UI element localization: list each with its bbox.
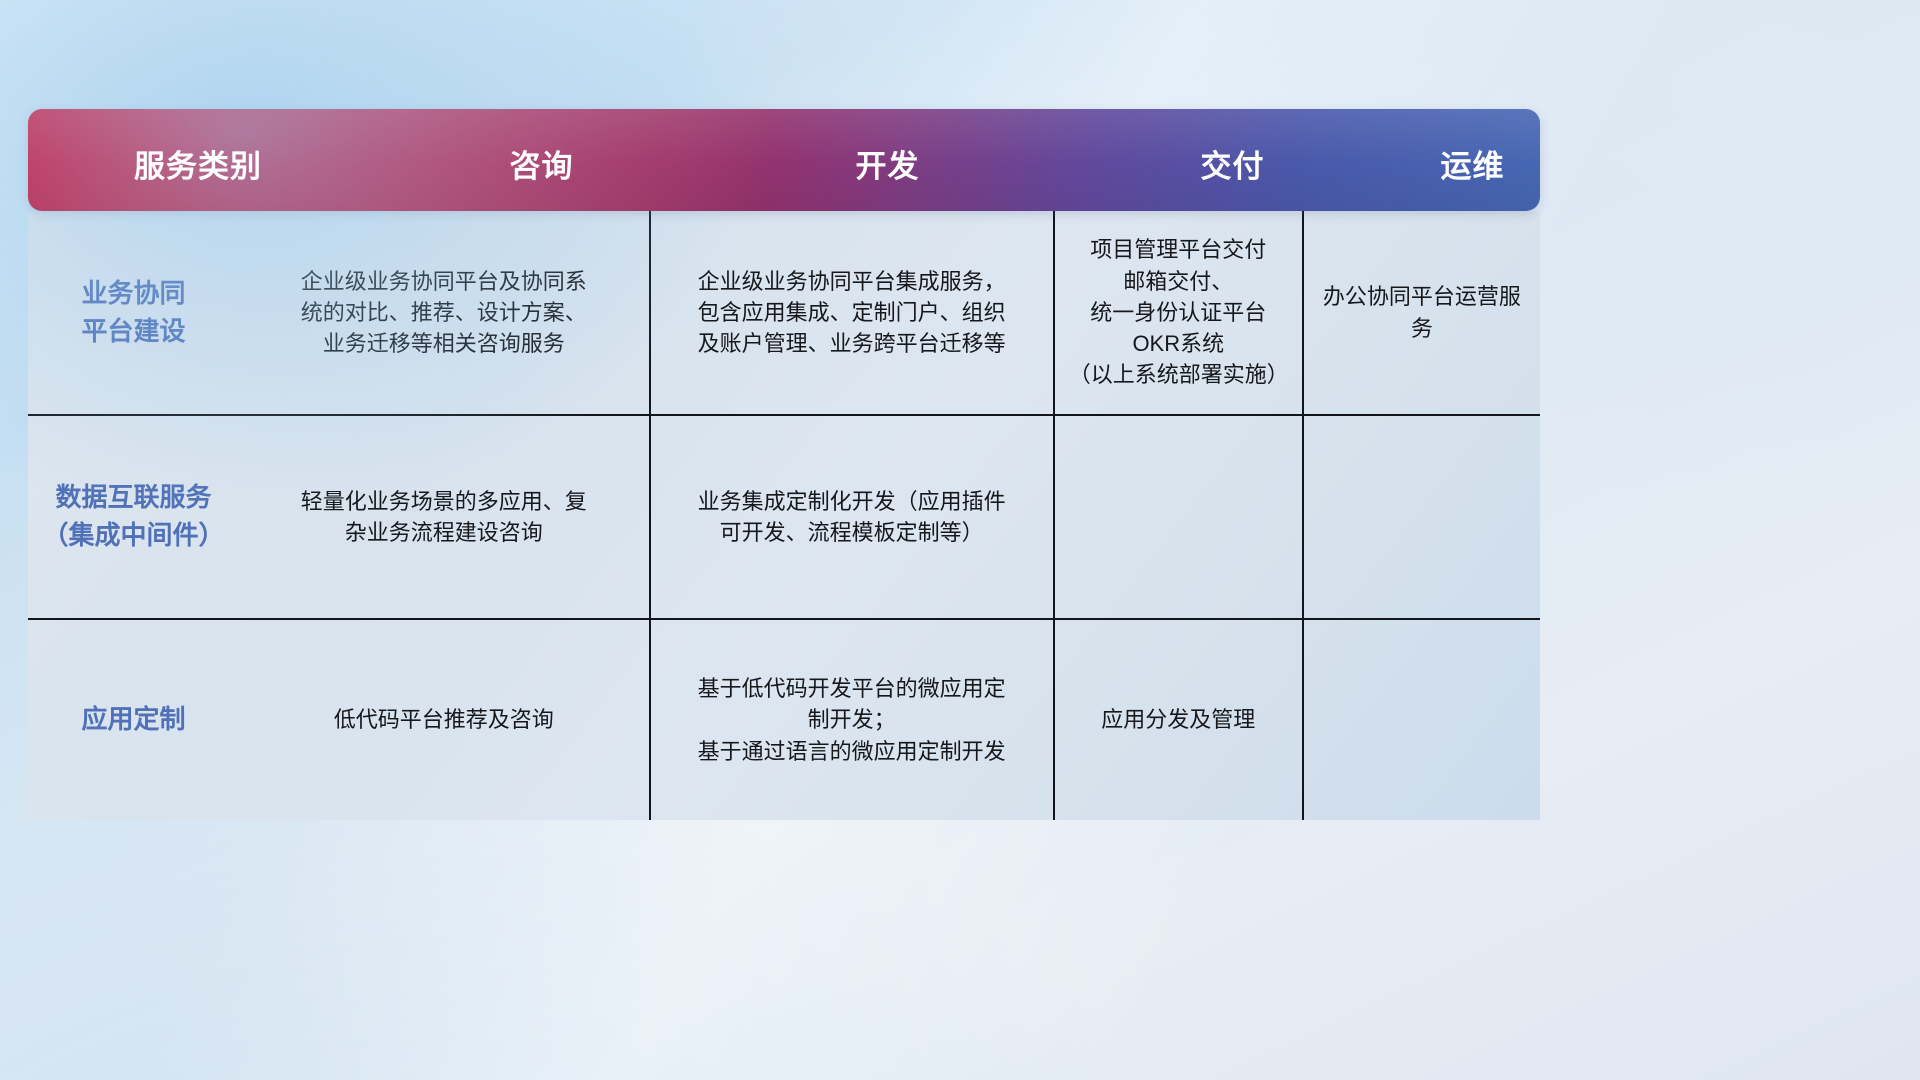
row-consulting-cell: 低代码平台推荐及咨询 — [239, 620, 650, 820]
column-header-label: 开发 — [856, 141, 920, 186]
service-matrix-table: 服务类别 咨询 开发 交付 运维 业务协同 平台建设 企业级业务协同平台及协同系… — [28, 109, 1540, 820]
row-consulting-cell: 企业级业务协同平台及协同系 统的对比、推荐、设计方案、 业务迁移等相关咨询服务 — [239, 211, 650, 414]
table-row: 业务协同 平台建设 企业级业务协同平台及协同系 统的对比、推荐、设计方案、 业务… — [28, 211, 1540, 414]
row-development-cell: 基于低代码开发平台的微应用定 制开发； 基于通过语言的微应用定制开发 — [651, 620, 1055, 820]
row-category-cell: 应用定制 — [28, 620, 239, 820]
column-header-label: 交付 — [1201, 141, 1265, 186]
table-row: 数据互联服务 （集成中间件） 轻量化业务场景的多应用、复 杂业务流程建设咨询 业… — [28, 414, 1540, 618]
column-header-delivery: 交付 — [1060, 109, 1405, 211]
column-header-development: 开发 — [715, 109, 1060, 211]
row-operations-cell: 办公协同平台运营服务 — [1304, 211, 1540, 414]
row-delivery-cell — [1055, 416, 1304, 618]
row-delivery-cell: 项目管理平台交付 邮箱交付、 统一身份认证平台 OKR系统 （以上系统部署实施） — [1055, 211, 1304, 414]
column-header-label: 服务类别 — [134, 141, 262, 186]
slide-canvas: 服务类别 咨询 开发 交付 运维 业务协同 平台建设 企业级业务协同平台及协同系… — [0, 0, 1920, 1080]
table-header-row: 服务类别 咨询 开发 交付 运维 — [28, 109, 1540, 211]
row-operations-cell — [1304, 416, 1540, 618]
row-category-cell: 数据互联服务 （集成中间件） — [28, 416, 239, 618]
column-header-label: 运维 — [1441, 141, 1505, 186]
column-header-service-category: 服务类别 — [28, 109, 368, 211]
row-consulting-cell: 轻量化业务场景的多应用、复 杂业务流程建设咨询 — [239, 416, 650, 618]
column-header-consulting: 咨询 — [368, 109, 715, 211]
column-header-operations: 运维 — [1405, 109, 1540, 211]
column-header-label: 咨询 — [510, 141, 574, 186]
table-row: 应用定制 低代码平台推荐及咨询 基于低代码开发平台的微应用定 制开发； 基于通过… — [28, 618, 1540, 820]
table-body: 业务协同 平台建设 企业级业务协同平台及协同系 统的对比、推荐、设计方案、 业务… — [28, 211, 1540, 820]
row-category-cell: 业务协同 平台建设 — [28, 211, 239, 414]
row-operations-cell — [1304, 620, 1540, 820]
row-development-cell: 业务集成定制化开发（应用插件 可开发、流程模板定制等） — [651, 416, 1055, 618]
row-delivery-cell: 应用分发及管理 — [1055, 620, 1304, 820]
row-development-cell: 企业级业务协同平台集成服务， 包含应用集成、定制门户、组织 及账户管理、业务跨平… — [651, 211, 1055, 414]
